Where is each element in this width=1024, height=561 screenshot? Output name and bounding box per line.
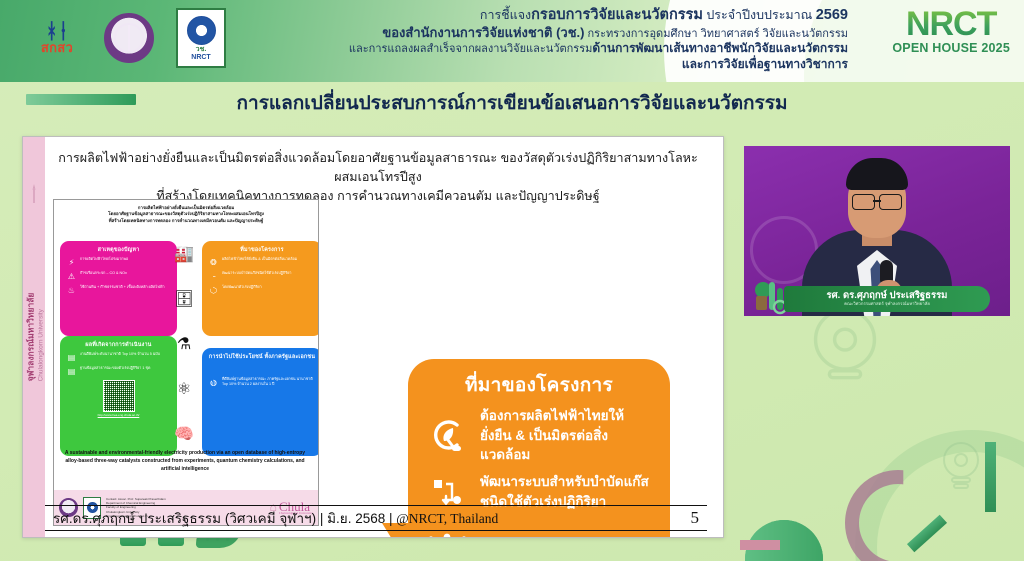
header-line3-bold: ด้านการพัฒนาเส้นทางอาชีพนักวิจัยและนวัตก… — [592, 41, 848, 55]
chula-side-label-en: Chulalongkorn University — [38, 293, 45, 382]
glasses-icon — [852, 194, 902, 208]
bubble-origin-row-1: พัฒนาระบบบำบัดแก๊สชนิดใช้ตัวเร่งปฏิกิริย… — [222, 271, 292, 276]
presenter-role: คณะวิศวกรรมศาสตร์ จุฬาลงกรณ์มหาวิทยาลัย — [844, 302, 930, 307]
header-line1-tail: ประจำปีงบประมาณ — [703, 8, 816, 22]
bubble-title-problem: สาเหตุของปัญหา — [66, 246, 171, 254]
slide-footer-sep1: | — [316, 511, 327, 526]
slide-footer: รศ.ดร.ศุภฤกษ์ ประเสริฐธรรม (วิศวเคมี จุฬ… — [45, 505, 707, 531]
slide-footer-sep2: | — [385, 511, 396, 526]
header-line2-bold: ของสำนักงานการวิจัยแห่งชาติ (วช.) — [382, 25, 584, 40]
infographic-bubble-usage: การนำไปใช้ประโยชน์ ทั้งภาครัฐและเอกชน ◍ … — [202, 348, 319, 456]
power-plant-icon: 🏭 — [174, 244, 194, 264]
chula-side-label-th: จุฬาลงกรณ์มหาวิทยาลัย — [26, 293, 36, 382]
bubble-problem-row-0: การผลิตไฟฟ้าไทยโปร่งมากพอ — [80, 257, 128, 262]
presenter-video-panel[interactable]: รศ. ดร.ศุภฤกษ์ ประเสริฐธรรม คณะวิศวกรรมศ… — [744, 146, 1010, 316]
callout-item-0-text: ต้องการผลิตไฟฟ้าไทยให้ ยั่งยืน & เป็นมิต… — [480, 406, 656, 465]
document-icon: ▤ — [66, 352, 77, 363]
slide-footer-text: รศ.ดร.ศุภฤกษ์ ประเสริฐธรรม (วิศวเคมี จุฬ… — [53, 507, 691, 529]
bubble-origin-row-2: โดยพัฒนาตัวเร่งปฏิกิริยา — [222, 285, 262, 290]
nrct-open-house-logo: NRCT OPEN HOUSE 2025 — [892, 8, 1010, 55]
infographic-heading: การผลิตไฟฟ้าอย่างยั่งยืนและเป็นมิตรต่อสิ… — [54, 200, 318, 227]
slide-title: การผลิตไฟฟ้าอย่างยั่งยืนและเป็นมิตรต่อสิ… — [53, 149, 703, 206]
header-line3-lite: และการแถลงผลสำเร็จจากผลงานวิจัยและนวัตกร… — [349, 43, 592, 55]
bolt-icon: ⚡ — [66, 257, 77, 268]
session-title: การแลกเปลี่ยนประสบการณ์การเขียนข้อเสนอกา… — [0, 88, 1024, 118]
infographic-link[interactable]: http://www.hea.eng.chula.ac.th/ — [66, 413, 171, 417]
slide-page-number: 5 — [691, 508, 700, 528]
header-line1-lead: การชี้แจง — [480, 8, 531, 22]
infographic-poster[interactable]: การผลิตไฟฟ้าอย่างยั่งยืนและเป็นมิตรต่อสิ… — [53, 199, 319, 526]
bubble-origin-row-0: ผลิตไฟฟ้าไทยให้ยั่งยืน & เป็นมิตรต่อสิ่ง… — [222, 257, 297, 262]
bubble-problem-row-2: ใช้ถ่านหิน + ก๊าซธรรมชาติ + เชื้อเพลิงหล… — [80, 285, 165, 290]
bubble-title-outcome: ผลที่เกิดจากการดำเนินงาน — [66, 341, 171, 349]
leaf-plug-icon — [426, 414, 468, 456]
nrct-brand-subtext: OPEN HOUSE 2025 — [892, 41, 1010, 55]
leaf-plug-icon: ❂ — [208, 257, 219, 268]
infographic-bubble-origin: ที่มาของโครงการ ❂ ผลิตไฟฟ้าไทยให้ยั่งยืน… — [202, 241, 319, 336]
header-logo-group: ᚼᚽ สกสว วช. NRCT — [28, 8, 230, 68]
callout-item-0: ต้องการผลิตไฟฟ้าไทยให้ ยั่งยืน & เป็นมิต… — [408, 400, 670, 465]
session-title-bar: การแลกเปลี่ยนประสบการณ์การเขียนข้อเสนอกา… — [0, 82, 1024, 122]
chula-emblem-icon — [27, 183, 41, 205]
header-line2-lite: กระทรวงการอุดมศึกษา วิทยาศาสตร์ วิจัยและ… — [584, 28, 848, 40]
presenter-name: รศ. ดร.ศุภฤกษ์ ประเสริฐธรรม — [827, 291, 948, 301]
database-icon: 🗄 — [174, 289, 194, 309]
nrct-seal-logo: วช. NRCT — [172, 8, 230, 68]
bubble-outcome-row-1: ฐานข้อมูลสาธารณะของตัวเร่งปฏิกิริยา 1 ชุ… — [80, 366, 150, 371]
globe-icon: ◍ — [208, 377, 219, 388]
nrct-brand-text: NRCT — [892, 8, 1010, 40]
callout-title: ที่มาของโครงการ — [408, 359, 670, 400]
atom-icon: ⚛ — [177, 379, 191, 399]
infographic-heading-l3: ที่สร้างโดยเทคนิคทางการทดลอง การคำนวณทาง… — [61, 218, 311, 224]
qr-code[interactable] — [103, 380, 135, 412]
chula-side-strip: จุฬาลงกรณ์มหาวิทยาลัย Chulalongkorn Univ… — [23, 137, 45, 537]
flask-icon: ⚗ — [177, 334, 191, 354]
header-line4: และการวิจัยเพื่อฐานทางวิชาการ — [248, 57, 848, 72]
flow-icon: ⌐ — [208, 271, 219, 282]
bubble-outcome-row-0: งานตีพิมพ์ระดับนานาชาติ Top 10% จำนวน 5 … — [80, 352, 160, 357]
chula-side-label: จุฬาลงกรณ์มหาวิทยาลัย Chulalongkorn Univ… — [24, 293, 45, 382]
infographic-english-caption: A sustainable and environmental-friendly… — [60, 450, 310, 473]
slide-title-line1: การผลิตไฟฟ้าอย่างยั่งยืนและเป็นมิตรต่อสิ… — [53, 149, 703, 187]
nrct-seal-label-en: NRCT — [191, 54, 210, 61]
infographic-center-icons: 🏭 🗄 ⚗ ⚛ 🧠 — [167, 244, 201, 444]
presentation-slide: จุฬาลงกรณ์มหาวิทยาลัย Chulalongkorn Univ… — [22, 136, 724, 538]
molecule-icon: ⬡ — [208, 285, 219, 296]
decorative-bar-3 — [740, 540, 780, 550]
header-line1-bold: กรอบการวิจัยและนวัตกรรม — [531, 7, 703, 23]
slide-footer-venue: @NRCT, Thailand — [396, 511, 498, 526]
header-line1-year: 2569 — [816, 7, 848, 23]
hazard-icon: ⚠ — [66, 271, 77, 282]
infographic-bubble-outcome: ผลที่เกิดจากการดำเนินงาน ▤ งานตีพิมพ์ระด… — [60, 336, 177, 456]
bubble-usage-row-0: ที่ตีพิมพ์ฐานข้อมูลสาธารณะ ภาครัฐและเอกช… — [222, 377, 316, 387]
presenter-lower-third: รศ. ดร.ศุภฤกษ์ ประเสริฐธรรม คณะวิศวกรรมศ… — [784, 286, 990, 312]
decorative-bar — [985, 442, 996, 512]
lightbulb-icon — [935, 438, 987, 494]
sktw-logo-label: สกสว — [41, 41, 73, 54]
header-title-block: การชี้แจงกรอบการวิจัยและนวัตกรรม ประจำปี… — [248, 6, 848, 72]
ai-head-icon: 🧠 — [174, 424, 194, 444]
event-header-banner: ᚼᚽ สกสว วช. NRCT การชี้แจงกรอบการวิจัยแล… — [0, 0, 1024, 82]
nrct-seal-label-th: วช. — [196, 46, 207, 53]
slide-footer-presenter: รศ.ดร.ศุภฤกษ์ ประเสริฐธรรม (วิศวเคมี จุฬ… — [53, 511, 316, 526]
slide-broadcast-screen: ᚼᚽ สกสว วช. NRCT การชี้แจงกรอบการวิจัยแล… — [0, 0, 1024, 561]
bubble-title-usage: การนำไปใช้ประโยชน์ ทั้งภาครัฐและเอกชน — [208, 353, 316, 361]
infographic-bubble-problem: สาเหตุของปัญหา ⚡ การผลิตไฟฟ้าไทยโปร่งมาก… — [60, 241, 177, 336]
bubble-problem-row-1: ก๊าซเรือนกระจก – CO & NOx — [80, 271, 127, 276]
chula-seal-logo — [100, 8, 158, 68]
bubble-title-origin: ที่มาของโครงการ — [208, 246, 316, 254]
database-icon: ▤ — [66, 366, 77, 377]
fire-icon: ♨ — [66, 285, 77, 296]
slide-footer-date: มิ.ย. 2568 — [327, 511, 385, 526]
sktw-logo: ᚼᚽ สกสว — [28, 8, 86, 68]
